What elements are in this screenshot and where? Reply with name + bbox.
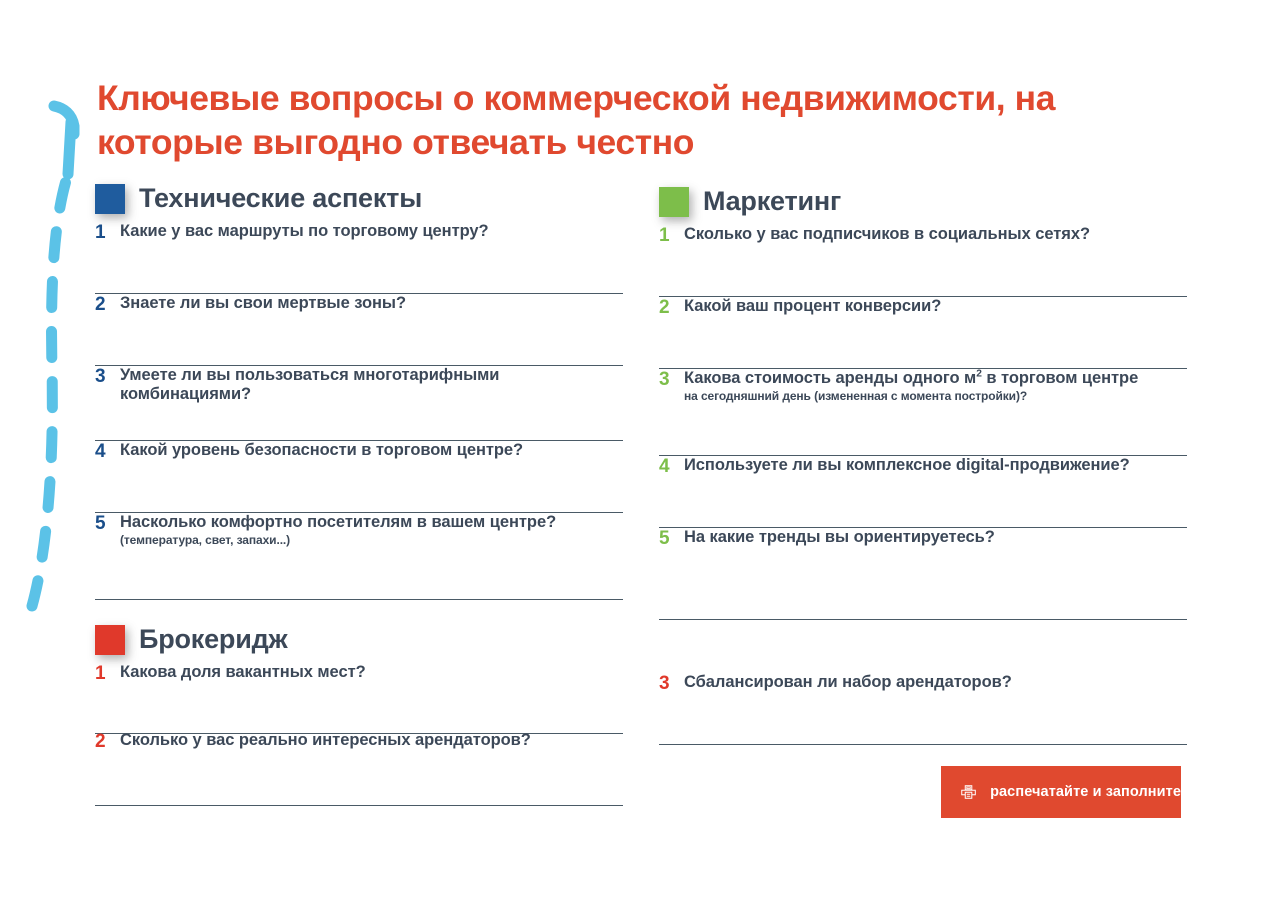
answer-line[interactable] [95, 805, 623, 806]
section-header-technical: Технические аспекты [95, 183, 623, 213]
question-number: 3 [95, 366, 106, 388]
question-number: 2 [95, 294, 106, 316]
question-number: 1 [659, 225, 670, 247]
section-technical: Технические аспекты 1 Какие у вас маршру… [95, 183, 623, 600]
question-text: На какие тренды вы ориентируетесь? [684, 528, 1187, 547]
question-item: 4 Какой уровень безопасности в торговом … [95, 441, 623, 512]
question-row: 5 На какие тренды вы ориентируетесь? [659, 528, 1187, 620]
section-header-marketing: Маркетинг [659, 186, 1187, 216]
question-row: 1 Какие у вас маршруты по торговому цент… [95, 222, 623, 294]
question-subtext: (температура, свет, запахи...) [120, 533, 623, 547]
section-brokerage-continued: 3 Сбалансирован ли набор арендаторов? [659, 673, 1187, 745]
answer-line[interactable] [95, 599, 623, 600]
question-subtext: на сегодняшний день (измененная с момент… [684, 389, 1187, 403]
question-row: 1 Сколько у вас подписчиков в социальных… [659, 225, 1187, 297]
section-header-brokerage: Брокеридж [95, 624, 623, 654]
question-item: 2 Сколько у вас реально интересных аренд… [95, 731, 623, 805]
question-number: 2 [95, 731, 106, 753]
question-text: Сбалансирован ли набор арендаторов? [684, 673, 1187, 692]
question-text-before: Какова стоимость аренды одного м [684, 369, 976, 387]
section-title-brokerage: Брокеридж [139, 626, 288, 653]
question-number: 4 [659, 456, 670, 478]
question-item: 3 Умеете ли вы пользоваться многотарифны… [95, 366, 623, 440]
question-number: 5 [659, 528, 670, 550]
section-swatch-icon [95, 625, 125, 655]
question-item: 3 Сбалансирован ли набор арендаторов? [659, 673, 1187, 744]
question-row: 2 Сколько у вас реально интересных аренд… [95, 731, 623, 806]
question-number: 2 [659, 297, 670, 319]
question-row: 3 Умеете ли вы пользоваться многотарифны… [95, 366, 623, 441]
question-text: Сколько у вас подписчиков в социальных с… [684, 225, 1187, 244]
question-row: 5 Насколько комфортно посетителям в ваше… [95, 513, 623, 600]
section-swatch-icon [95, 184, 125, 214]
question-row: 4 Какой уровень безопасности в торговом … [95, 441, 623, 513]
question-text: Какой уровень безопасности в торговом це… [120, 441, 623, 460]
question-item: 2 Знаете ли вы свои мертвые зоны? [95, 294, 623, 365]
print-button-label: распечатайте и заполните [990, 784, 1181, 800]
print-and-fill-button[interactable]: распечатайте и заполните [941, 766, 1181, 818]
question-item: 4 Используете ли вы комплексное digital-… [659, 456, 1187, 527]
question-text: Сколько у вас реально интересных арендат… [120, 731, 623, 750]
question-text: Насколько комфортно посетителям в вашем … [120, 513, 623, 532]
question-item: 2 Какой ваш процент конверсии? [659, 297, 1187, 368]
question-text: Знаете ли вы свои мертвые зоны? [120, 294, 623, 313]
answer-line[interactable] [659, 619, 1187, 620]
question-number: 1 [95, 222, 106, 244]
question-number: 3 [659, 369, 670, 391]
question-number: 3 [659, 673, 670, 695]
question-row: 3 Сбалансирован ли набор арендаторов? [659, 673, 1187, 745]
question-text: Какова доля вакантных мест? [120, 663, 623, 682]
question-text: Какова стоимость аренды одного м2 в торг… [684, 369, 1187, 388]
question-row: 2 Какой ваш процент конверсии? [659, 297, 1187, 369]
question-number: 4 [95, 441, 106, 463]
question-item: 1 Какие у вас маршруты по торговому цент… [95, 222, 623, 293]
question-number: 1 [95, 663, 106, 685]
question-text-after: в торговом центре [982, 369, 1138, 387]
question-item: 1 Сколько у вас подписчиков в социальных… [659, 225, 1187, 296]
question-row: 3 Какова стоимость аренды одного м2 в то… [659, 369, 1187, 456]
section-marketing: Маркетинг 1 Сколько у вас подписчиков в … [659, 186, 1187, 620]
question-row: 2 Знаете ли вы свои мертвые зоны? [95, 294, 623, 366]
answer-line[interactable] [659, 744, 1187, 745]
question-row: 1 Какова доля вакантных мест? [95, 663, 623, 731]
question-item: 1 Какова доля вакантных мест? [95, 663, 623, 733]
question-text: Какие у вас маршруты по торговому центру… [120, 222, 623, 241]
section-title-marketing: Маркетинг [703, 188, 841, 215]
page-title: Ключевые вопросы о коммерческой недвижим… [97, 76, 1192, 165]
question-number: 5 [95, 513, 106, 535]
question-item: 3 Какова стоимость аренды одного м2 в то… [659, 369, 1187, 455]
printer-icon [961, 778, 976, 806]
question-row: 4 Используете ли вы комплексное digital-… [659, 456, 1187, 528]
question-text: Используете ли вы комплексное digital-пр… [684, 456, 1187, 475]
section-brokerage: Брокеридж 1 Какова доля вакантных мест? … [95, 624, 623, 806]
question-item: 5 Насколько комфортно посетителям в ваше… [95, 513, 623, 599]
question-item: 5 На какие тренды вы ориентируетесь? [659, 528, 1187, 619]
section-title-technical: Технические аспекты [139, 185, 422, 212]
question-text: Умеете ли вы пользоваться многотарифными… [120, 366, 623, 405]
question-text: Какой ваш процент конверсии? [684, 297, 1187, 316]
section-swatch-icon [659, 187, 689, 217]
